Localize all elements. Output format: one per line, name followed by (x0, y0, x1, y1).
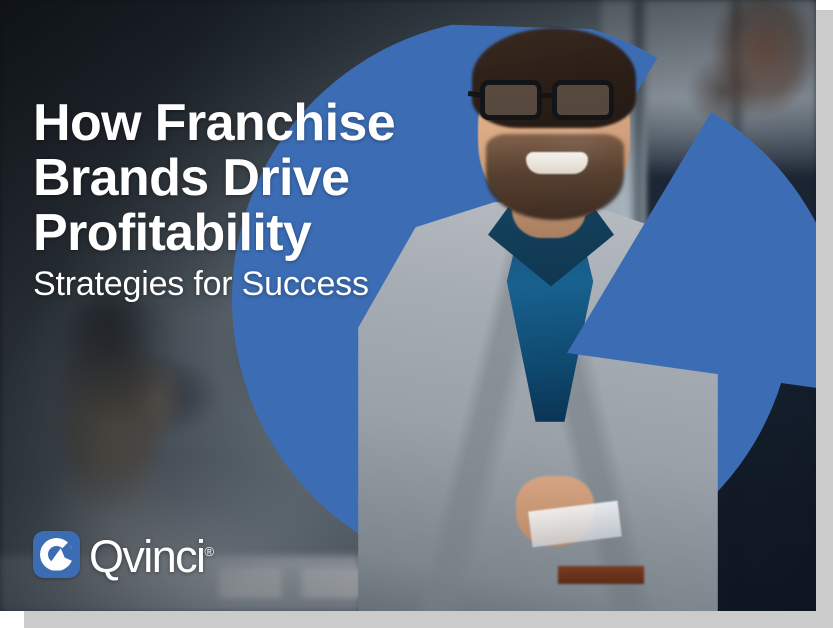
page-title-line-1: How Franchise (33, 96, 453, 151)
glasses-bridge (540, 93, 556, 98)
logo-wordmark: Qvinci® (89, 529, 214, 579)
belt (558, 566, 644, 584)
page-title-line-3: Profitability (33, 206, 453, 261)
brand-logo[interactable]: Qvinci® (33, 529, 214, 579)
cover-canvas: How Franchise Brands Drive Profitability… (0, 0, 816, 611)
glasses-right-lens (552, 80, 614, 120)
registered-trademark-symbol: ® (204, 544, 214, 559)
cover-page: How Franchise Brands Drive Profitability… (0, 0, 833, 628)
page-subtitle: Strategies for Success (33, 264, 369, 304)
beard (486, 134, 624, 220)
glasses-temple (468, 91, 485, 98)
glasses-left-lens (480, 80, 542, 120)
qvinci-pie-cursor-icon (33, 531, 80, 578)
page-title: How Franchise Brands Drive Profitability (33, 96, 453, 261)
page-title-line-2: Brands Drive (33, 151, 453, 206)
eyeglasses-icon (478, 80, 638, 124)
logo-wordmark-text: Qvinci (89, 531, 204, 582)
smile (526, 152, 588, 174)
